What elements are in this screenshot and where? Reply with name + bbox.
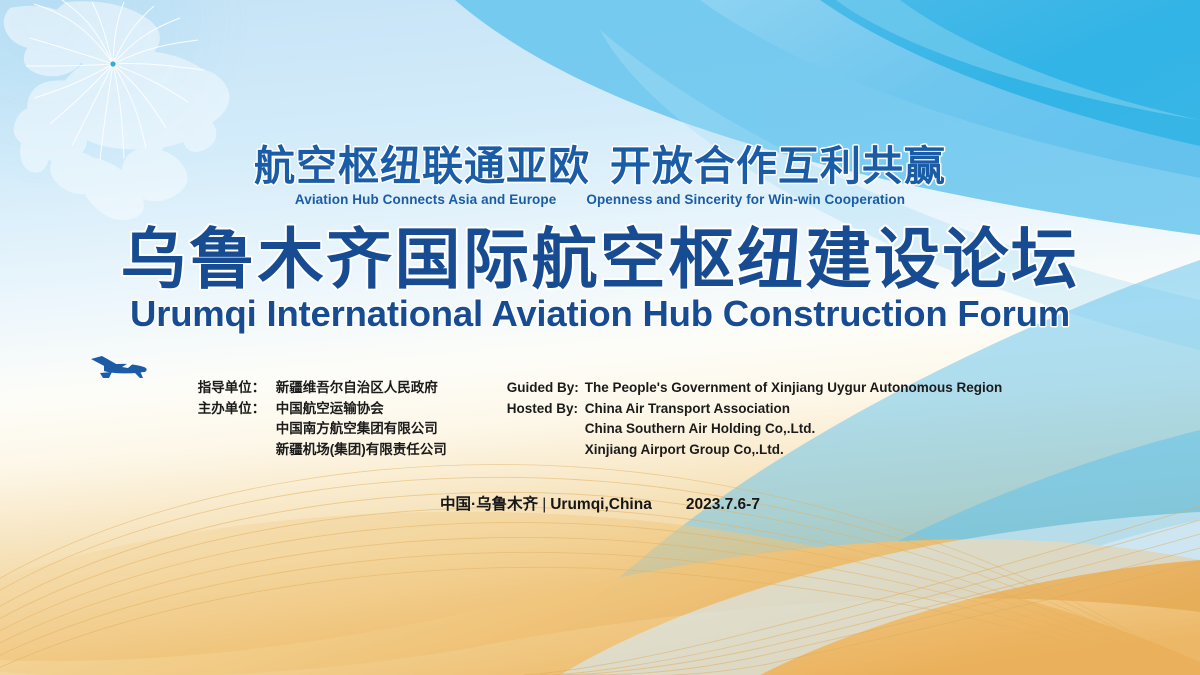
hosted-value-3-cn: 新疆机场(集团)有限责任公司 (276, 440, 447, 461)
tagline-chinese-left: 航空枢纽联通亚欧 (254, 143, 590, 189)
guided-label-cn: 指导单位： (198, 378, 276, 399)
hosted-label-cn: 主办单位： (198, 399, 276, 420)
hosted-value-1-en: China Air Transport Association (585, 399, 790, 420)
hosted-row-cn: 主办单位： 中国航空运输协会 (198, 399, 447, 420)
page-title-english: Urumqi International Aviation Hub Constr… (0, 293, 1200, 335)
location-english: Urumqi,China (550, 496, 652, 513)
guided-label-en: Guided By: (507, 378, 585, 399)
guided-value-cn: 新疆维吾尔自治区人民政府 (276, 378, 438, 399)
location-chinese: 中国·乌鲁木齐 (440, 496, 538, 513)
hosted-row-en-3: Xinjiang Airport Group Co,.Ltd. (507, 440, 1003, 461)
tagline-block: 航空枢纽联通亚欧开放合作互利共赢 Aviation Hub Connects A… (0, 144, 1200, 207)
hosted-row-en: Hosted By: China Air Transport Associati… (507, 399, 1003, 420)
tagline-chinese: 航空枢纽联通亚欧开放合作互利共赢 (0, 144, 1200, 190)
credits-block: 指导单位： 新疆维吾尔自治区人民政府 主办单位： 中国航空运输协会 中国南方航空… (0, 378, 1200, 460)
guided-value-en: The People's Government of Xinjiang Uygu… (585, 378, 1003, 399)
credits-chinese-column: 指导单位： 新疆维吾尔自治区人民政府 主办单位： 中国航空运输协会 中国南方航空… (198, 378, 447, 460)
credits-english-column: Guided By: The People's Government of Xi… (507, 378, 1003, 460)
hosted-spacer-cn-2 (198, 440, 276, 461)
guided-row-en: Guided By: The People's Government of Xi… (507, 378, 1003, 399)
hosted-row-cn-2: 中国南方航空集团有限公司 (198, 419, 447, 440)
hosted-value-2-cn: 中国南方航空集团有限公司 (276, 419, 438, 440)
page-title-chinese: 乌鲁木齐国际航空枢纽建设论坛 (0, 224, 1200, 295)
hosted-value-2-en: China Southern Air Holding Co,.Ltd. (585, 419, 815, 440)
forum-poster: 航空枢纽联通亚欧开放合作互利共赢 Aviation Hub Connects A… (0, 0, 1200, 675)
title-block: 乌鲁木齐国际航空枢纽建设论坛 Urumqi International Avia… (0, 224, 1200, 335)
hosted-spacer-cn-1 (198, 419, 276, 440)
hosted-spacer-en-2 (507, 440, 585, 461)
hosted-value-3-en: Xinjiang Airport Group Co,.Ltd. (585, 440, 784, 461)
hosted-value-1-cn: 中国航空运输协会 (276, 399, 384, 420)
tagline-english-right: Openness and Sincerity for Win-win Coope… (586, 192, 905, 207)
hosted-label-en: Hosted By: (507, 399, 585, 420)
guided-row-cn: 指导单位： 新疆维吾尔自治区人民政府 (198, 378, 447, 399)
hosted-spacer-en-1 (507, 419, 585, 440)
hosted-row-cn-3: 新疆机场(集团)有限责任公司 (198, 440, 447, 461)
tagline-chinese-right: 开放合作互利共赢 (610, 143, 946, 189)
hosted-row-en-2: China Southern Air Holding Co,.Ltd. (507, 419, 1003, 440)
tagline-english: Aviation Hub Connects Asia and EuropeOpe… (0, 192, 1200, 207)
tagline-english-left: Aviation Hub Connects Asia and Europe (295, 192, 556, 207)
footer-separator: | (538, 496, 550, 514)
event-date: 2023.7.6-7 (686, 496, 760, 514)
footer-line: 中国·乌鲁木齐|Urumqi,China2023.7.6-7 (0, 492, 1200, 514)
